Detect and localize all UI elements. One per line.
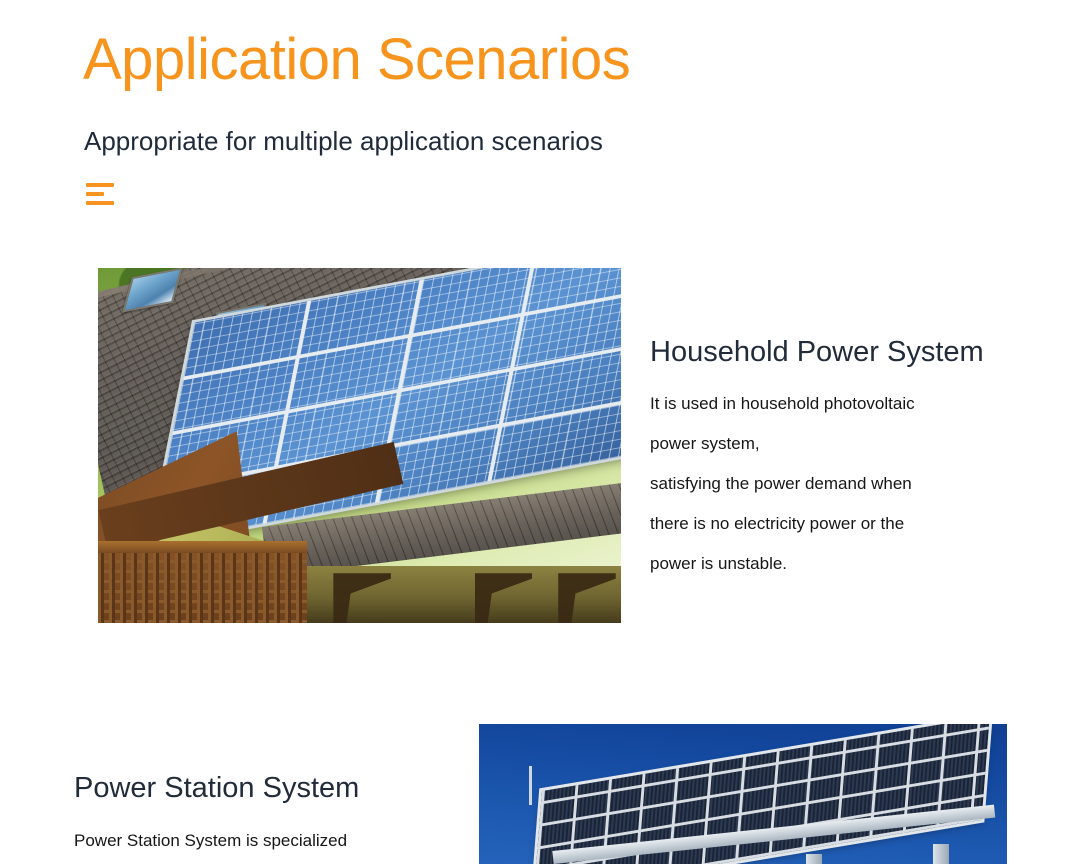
solar-tracker-array-photo	[479, 724, 1007, 864]
support-pylon	[933, 844, 949, 864]
page-subtitle: Appropriate for multiple application sce…	[84, 124, 603, 158]
household-power-system-block: Household Power System It is used in hou…	[650, 332, 1050, 584]
household-description: It is used in household photovoltaic pow…	[650, 384, 1050, 584]
power-station-description: Power Station System is specialized	[74, 822, 494, 860]
page-title: Application Scenarios	[83, 24, 630, 96]
household-description-line: there is no electricity power or the	[650, 504, 1050, 544]
wooden-balcony-railing	[98, 541, 307, 623]
three-bars-icon-line-1	[86, 183, 114, 187]
three-bars-icon	[86, 183, 120, 209]
three-bars-icon-line-2	[86, 192, 104, 196]
household-description-line: power is unstable.	[650, 544, 1050, 584]
power-station-heading: Power Station System	[74, 768, 494, 808]
household-description-line: satisfying the power demand when	[650, 464, 1050, 504]
slide-canvas: Application Scenarios Appropriate for mu…	[0, 0, 1080, 864]
power-station-system-block: Power Station System Power Station Syste…	[74, 768, 494, 860]
three-bars-icon-line-3	[86, 201, 114, 205]
house-rooftop-solar-panels-photo	[98, 268, 621, 623]
support-pylon	[806, 854, 822, 864]
power-station-description-line: Power Station System is specialized	[74, 822, 494, 860]
antenna-mast	[529, 766, 532, 805]
household-description-line: It is used in household photovoltaic	[650, 384, 1050, 424]
household-heading: Household Power System	[650, 332, 1050, 372]
household-description-line: power system,	[650, 424, 1050, 464]
